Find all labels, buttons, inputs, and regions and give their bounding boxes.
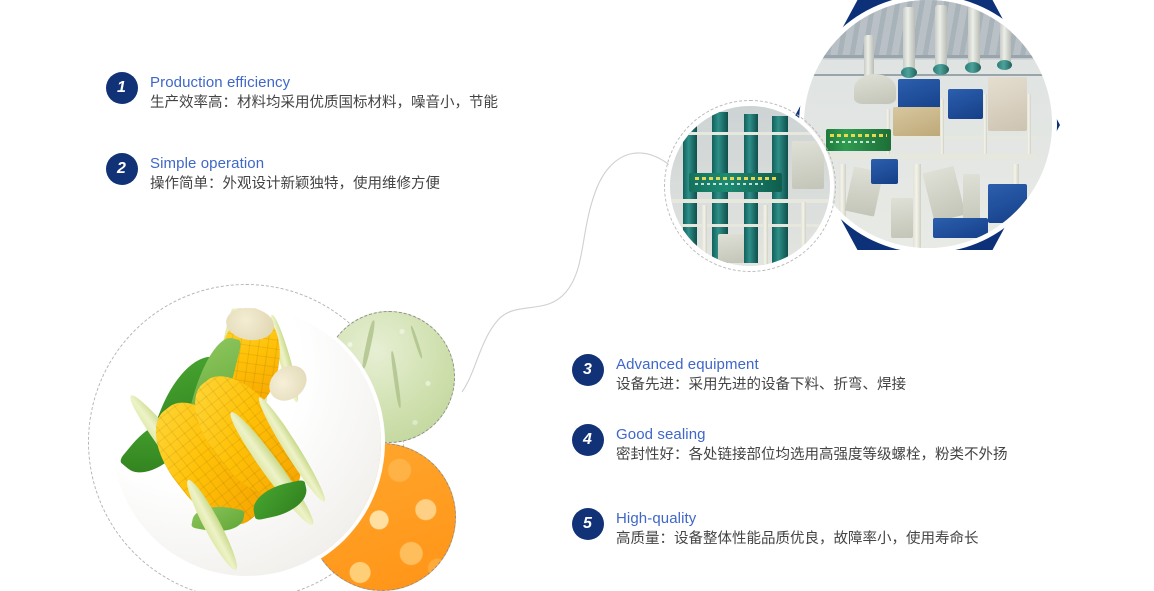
feature-title-1: Production efficiency xyxy=(150,73,498,92)
feature-desc-1: 生产效率高：材料均采用优质国标材料，噪音小，节能 xyxy=(150,93,498,114)
flour-milling-plant-photo xyxy=(804,0,1052,248)
feature-text-5: High-quality 高质量：设备整体性能品质优良，故障率小，使用寿命长 xyxy=(616,508,979,550)
feature-item-1: 1 Production efficiency 生产效率高：材料均采用优质国标材… xyxy=(106,72,498,114)
machinery-photo-cluster xyxy=(662,0,1062,272)
feature-desc-5: 高质量：设备整体性能品质优良，故障率小，使用寿命长 xyxy=(616,529,979,550)
feature-text-2: Simple operation 操作简单：外观设计新颖独特，使用维修方便 xyxy=(150,153,440,195)
feature-infographic: 1 Production efficiency 生产效率高：材料均采用优质国标材… xyxy=(0,0,1154,591)
feature-badge-2: 2 xyxy=(106,153,138,185)
grain-processing-line-photo xyxy=(670,106,830,266)
feature-badge-5: 5 xyxy=(572,508,604,540)
feature-desc-2: 操作简单：外观设计新颖独特，使用维修方便 xyxy=(150,174,440,195)
feature-title-5: High-quality xyxy=(616,509,979,528)
fresh-corn-cob-photo xyxy=(113,308,381,576)
feature-desc-4: 密封性好：各处链接部位均选用高强度等级螺栓，粉类不外扬 xyxy=(616,445,1008,466)
feature-item-2: 2 Simple operation 操作简单：外观设计新颖独特，使用维修方便 xyxy=(106,153,440,195)
feature-item-4: 4 Good sealing 密封性好：各处链接部位均选用高强度等级螺栓，粉类不… xyxy=(572,424,1008,466)
feature-text-4: Good sealing 密封性好：各处链接部位均选用高强度等级螺栓，粉类不外扬 xyxy=(616,424,1008,466)
corn-photo-cluster xyxy=(80,278,500,591)
feature-title-4: Good sealing xyxy=(616,425,1008,444)
feature-title-3: Advanced equipment xyxy=(616,355,906,374)
feature-item-3: 3 Advanced equipment 设备先进：采用先进的设备下料、折弯、焊… xyxy=(572,354,906,396)
feature-desc-3: 设备先进：采用先进的设备下料、折弯、焊接 xyxy=(616,375,906,396)
feature-text-1: Production efficiency 生产效率高：材料均采用优质国标材料，… xyxy=(150,72,498,114)
feature-badge-3: 3 xyxy=(572,354,604,386)
feature-badge-1: 1 xyxy=(106,72,138,104)
feature-badge-4: 4 xyxy=(572,424,604,456)
feature-title-2: Simple operation xyxy=(150,154,440,173)
feature-text-3: Advanced equipment 设备先进：采用先进的设备下料、折弯、焊接 xyxy=(616,354,906,396)
feature-item-5: 5 High-quality 高质量：设备整体性能品质优良，故障率小，使用寿命长 xyxy=(572,508,979,550)
